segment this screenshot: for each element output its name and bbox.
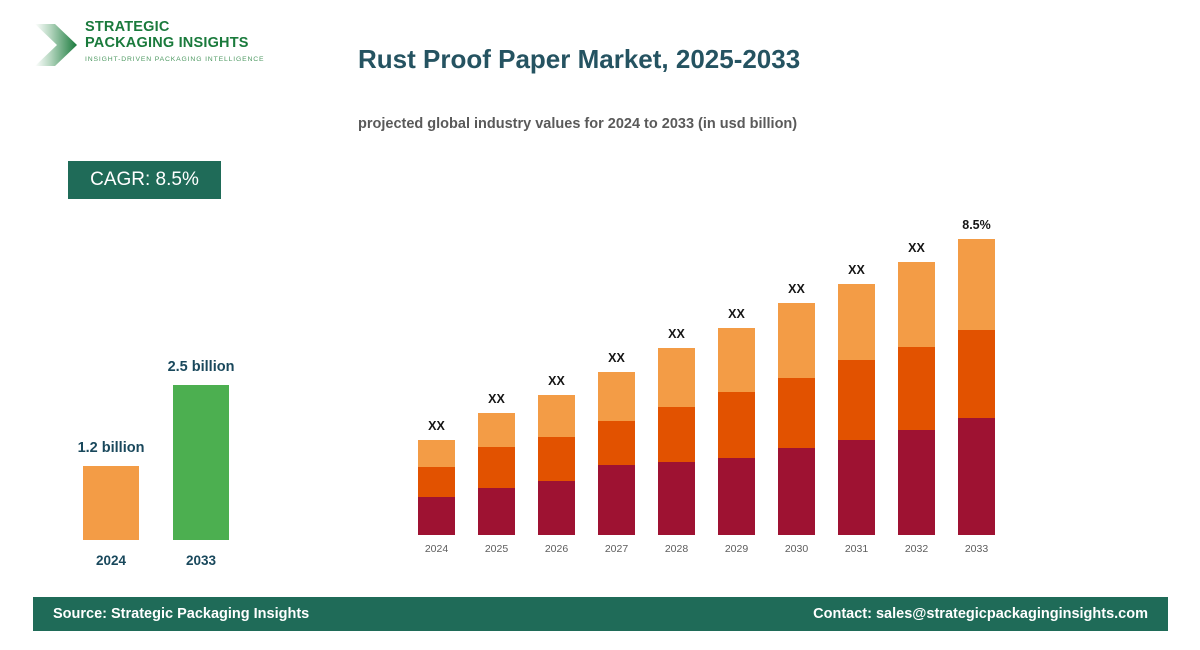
stacked-bar-year-label: 2033 xyxy=(958,543,995,555)
footer-contact-text: Contact: sales@strategicpackaginginsight… xyxy=(813,597,1148,631)
stacked-bar-year-label: 2029 xyxy=(718,543,755,555)
stacked-bar-segment xyxy=(418,440,455,467)
stacked-bar-segment xyxy=(478,413,515,447)
stacked-bar-segment xyxy=(958,418,995,535)
stacked-bar-column xyxy=(598,372,635,535)
comparison-bar-value-label: 1.2 billion xyxy=(61,440,161,456)
stacked-bar-top-label: XX xyxy=(598,351,635,365)
stacked-bar-column xyxy=(658,348,695,535)
stacked-bar-year-label: 2024 xyxy=(418,543,455,555)
stacked-bar-chart: XX2024XX2025XX2026XX2027XX2028XX2029XX20… xyxy=(400,195,1040,560)
stacked-bar-segment xyxy=(598,372,635,421)
stacked-bar-column xyxy=(958,239,995,535)
stacked-bar-top-label: XX xyxy=(478,392,515,406)
stacked-bar-segment xyxy=(538,437,575,481)
stacked-bar-segment xyxy=(718,458,755,535)
stacked-bar-segment xyxy=(538,481,575,535)
chevron-right-icon xyxy=(33,21,79,69)
comparison-bar-value-label: 2.5 billion xyxy=(151,359,251,375)
stacked-bar-segment xyxy=(418,467,455,497)
stacked-bar-segment xyxy=(838,360,875,440)
stacked-bar-top-label: XX xyxy=(718,307,755,321)
logo-line-2: PACKAGING INSIGHTS xyxy=(85,35,290,51)
stacked-bar-segment xyxy=(598,421,635,465)
comparison-bar xyxy=(173,385,229,540)
stacked-bar-segment xyxy=(898,347,935,430)
cagr-badge: CAGR: 8.5% xyxy=(68,161,221,199)
stacked-bar-column xyxy=(838,284,875,535)
comparison-bar-year-label: 2033 xyxy=(163,553,239,568)
logo-tagline: INSIGHT-DRIVEN PACKAGING INTELLIGENCE xyxy=(85,56,290,63)
stacked-bar-column xyxy=(418,440,455,535)
stacked-bar-segment xyxy=(838,440,875,535)
stacked-bar-top-label: XX xyxy=(778,282,815,296)
stacked-bar-segment xyxy=(958,330,995,418)
stacked-bar-segment xyxy=(718,328,755,392)
cagr-badge-label: CAGR: 8.5% xyxy=(90,169,199,191)
comparison-chart: 1.2 billion20242.5 billion2033 xyxy=(55,300,285,575)
stacked-bar-segment xyxy=(538,395,575,437)
stacked-bar-top-label: 8.5% xyxy=(958,218,995,232)
stacked-bar-segment xyxy=(598,465,635,535)
stacked-bar-segment xyxy=(898,430,935,535)
stacked-bar-top-label: XX xyxy=(658,327,695,341)
stacked-bar-year-label: 2032 xyxy=(898,543,935,555)
stacked-bar-segment xyxy=(658,348,695,407)
logo-wordmark: STRATEGIC PACKAGING INSIGHTS INSIGHT-DRI… xyxy=(85,19,290,63)
footer-bar: Source: Strategic Packaging Insights Con… xyxy=(33,597,1168,631)
stacked-bar-segment xyxy=(778,378,815,448)
stacked-bar-segment xyxy=(478,488,515,535)
stacked-bar-segment xyxy=(478,447,515,488)
stacked-bar-year-label: 2028 xyxy=(658,543,695,555)
stacked-bar-top-label: XX xyxy=(538,374,575,388)
stacked-bar-segment xyxy=(658,407,695,462)
brand-logo: STRATEGIC PACKAGING INSIGHTS INSIGHT-DRI… xyxy=(33,17,293,77)
stacked-bar-year-label: 2030 xyxy=(778,543,815,555)
stacked-bar-segment xyxy=(838,284,875,360)
stacked-bar-column xyxy=(538,395,575,535)
stacked-bar-segment xyxy=(418,497,455,535)
stacked-bar-year-label: 2031 xyxy=(838,543,875,555)
stacked-bar-segment xyxy=(658,462,695,535)
stacked-bar-segment xyxy=(778,303,815,378)
stacked-bar-top-label: XX xyxy=(418,419,455,433)
stacked-bar-segment xyxy=(958,239,995,330)
page-title: Rust Proof Paper Market, 2025-2033 xyxy=(358,44,800,75)
stacked-bar-column xyxy=(718,328,755,535)
stacked-bar-column xyxy=(778,303,815,535)
logo-line-1: STRATEGIC xyxy=(85,19,290,35)
stacked-bar-top-label: XX xyxy=(898,241,935,255)
stacked-bar-column xyxy=(478,413,515,535)
stacked-bar-year-label: 2026 xyxy=(538,543,575,555)
infographic-canvas: STRATEGIC PACKAGING INSIGHTS INSIGHT-DRI… xyxy=(0,0,1200,650)
footer-source-text: Source: Strategic Packaging Insights xyxy=(53,597,309,631)
stacked-bar-year-label: 2025 xyxy=(478,543,515,555)
stacked-bar-top-label: XX xyxy=(838,263,875,277)
stacked-bar-segment xyxy=(718,392,755,458)
stacked-bar-year-label: 2027 xyxy=(598,543,635,555)
page-subtitle: projected global industry values for 202… xyxy=(358,116,797,132)
stacked-bar-column xyxy=(898,262,935,535)
stacked-bar-segment xyxy=(778,448,815,535)
stacked-bar-segment xyxy=(898,262,935,347)
comparison-bar xyxy=(83,466,139,540)
comparison-bar-year-label: 2024 xyxy=(73,553,149,568)
